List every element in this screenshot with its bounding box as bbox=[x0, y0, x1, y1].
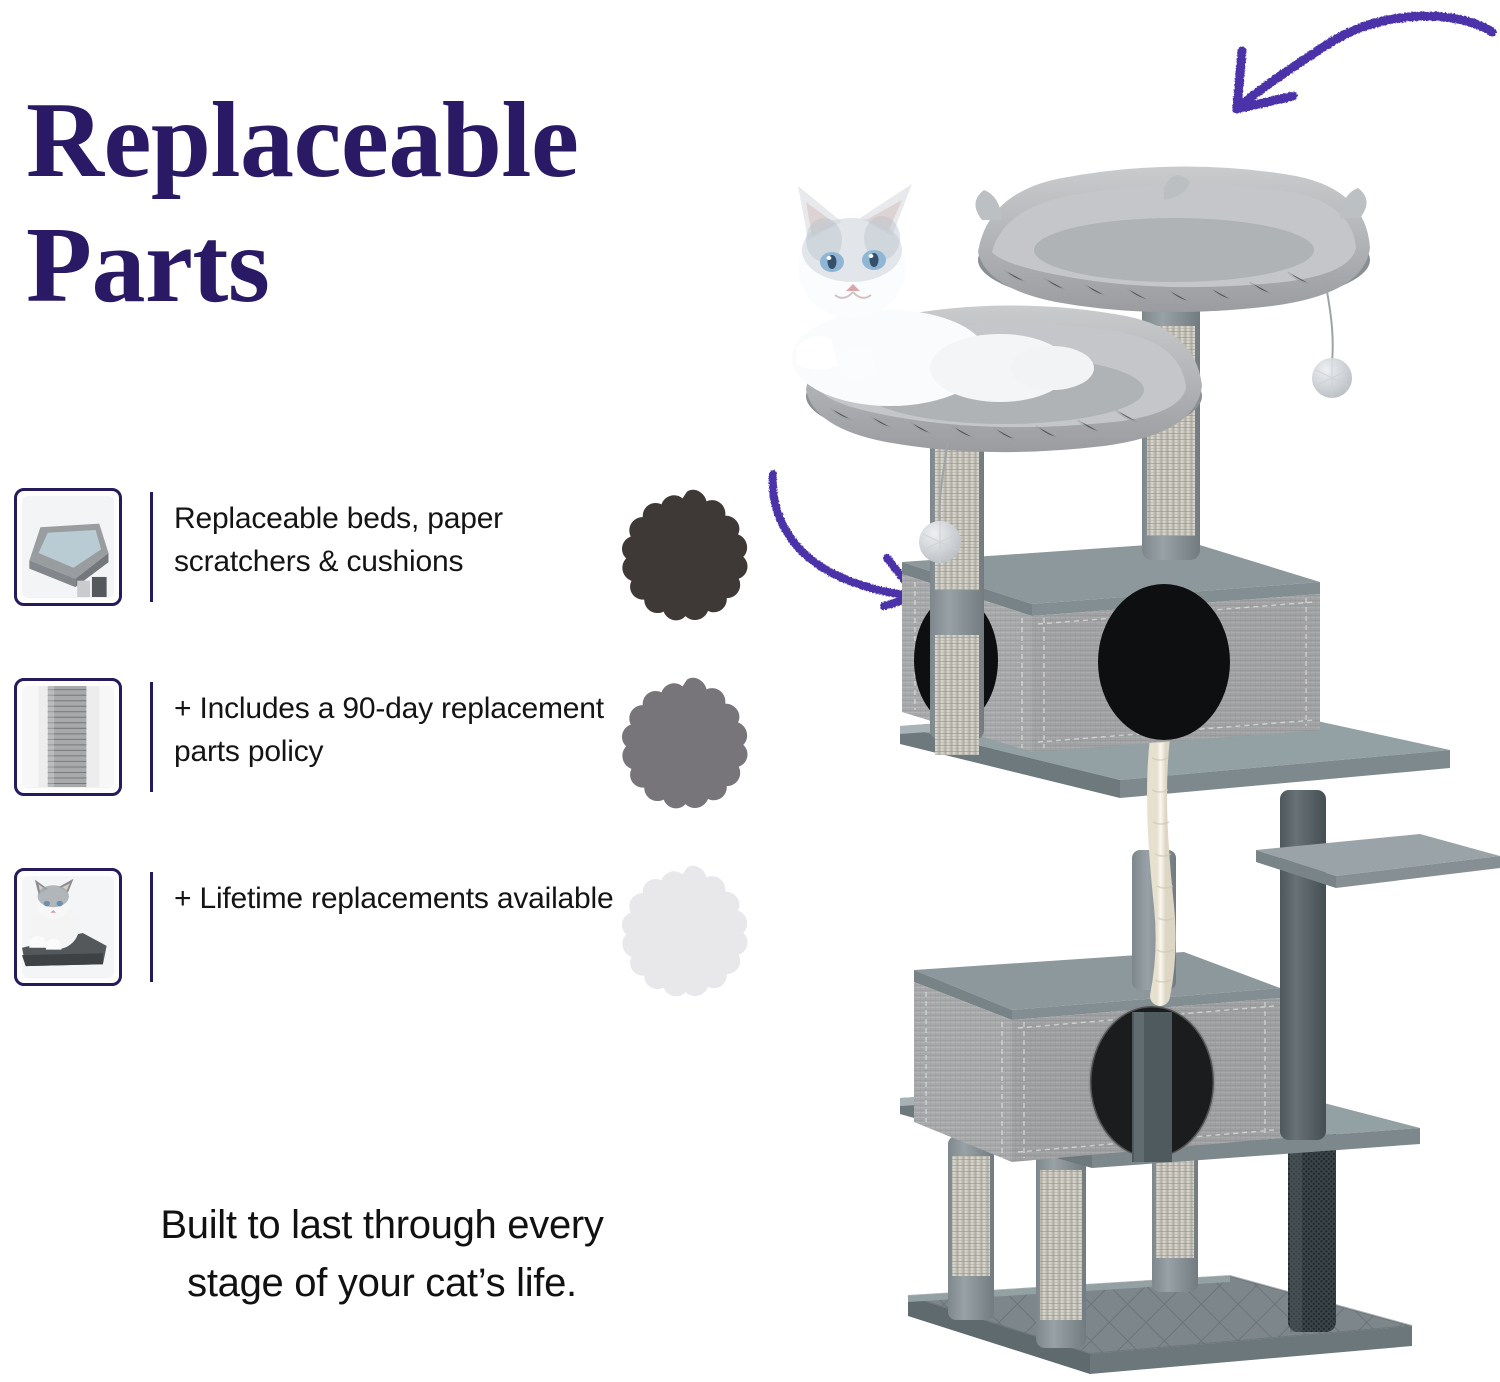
sisal-post-thumb-art bbox=[22, 686, 114, 787]
top-plush-bed bbox=[975, 166, 1370, 312]
decorative-blob-2 bbox=[612, 676, 762, 831]
infographic-page: Replaceable Parts bbox=[0, 0, 1500, 1382]
page-title-line1: Replaceable bbox=[26, 81, 578, 200]
multi-level-cat-tree bbox=[760, 90, 1500, 1382]
page-title-line2: Parts bbox=[26, 203, 786, 328]
feature-text-1: Replaceable beds, paper scratchers & cus… bbox=[174, 498, 614, 583]
feature-item-1: Replaceable beds, paper scratchers & cus… bbox=[0, 478, 790, 668]
cat-scratcher-thumb-art bbox=[22, 876, 114, 977]
thumbnail-cat-on-scratcher bbox=[14, 868, 122, 986]
feature-divider-1 bbox=[150, 492, 153, 602]
feature-divider-3 bbox=[150, 872, 153, 982]
scalloped-blob-shape bbox=[612, 864, 762, 1019]
tagline: Built to last through every stage of you… bbox=[52, 1196, 712, 1312]
thumbnail-sisal-scratching-post bbox=[14, 678, 122, 796]
feature-text-2: + Includes a 90-day replacement parts po… bbox=[174, 688, 614, 773]
scalloped-blob-shape bbox=[612, 676, 762, 831]
feature-item-2: + Includes a 90-day replacement parts po… bbox=[0, 668, 790, 858]
lower-condo-round-opening bbox=[914, 952, 1280, 1162]
bed-thumb-art bbox=[22, 496, 114, 597]
thumbnail-replaceable-bed bbox=[14, 488, 122, 606]
decorative-blob-3 bbox=[612, 864, 762, 1019]
feature-divider-2 bbox=[150, 682, 153, 792]
tagline-line1: Built to last through every bbox=[52, 1196, 712, 1254]
tagline-line2: stage of your cat’s life. bbox=[52, 1254, 712, 1312]
scalloped-blob-shape bbox=[612, 488, 762, 643]
right-tall-post bbox=[1280, 790, 1326, 1140]
hanging-pompom-toy-upper bbox=[1312, 286, 1352, 398]
feature-item-3: + Lifetime replacements available bbox=[0, 858, 790, 1048]
feature-list: Replaceable beds, paper scratchers & cus… bbox=[0, 478, 790, 1048]
cat-tree-illustration bbox=[760, 90, 1500, 1382]
decorative-blob-1 bbox=[612, 488, 762, 643]
feature-text-3: + Lifetime replacements available bbox=[174, 878, 614, 921]
page-title: Replaceable Parts bbox=[26, 78, 786, 329]
